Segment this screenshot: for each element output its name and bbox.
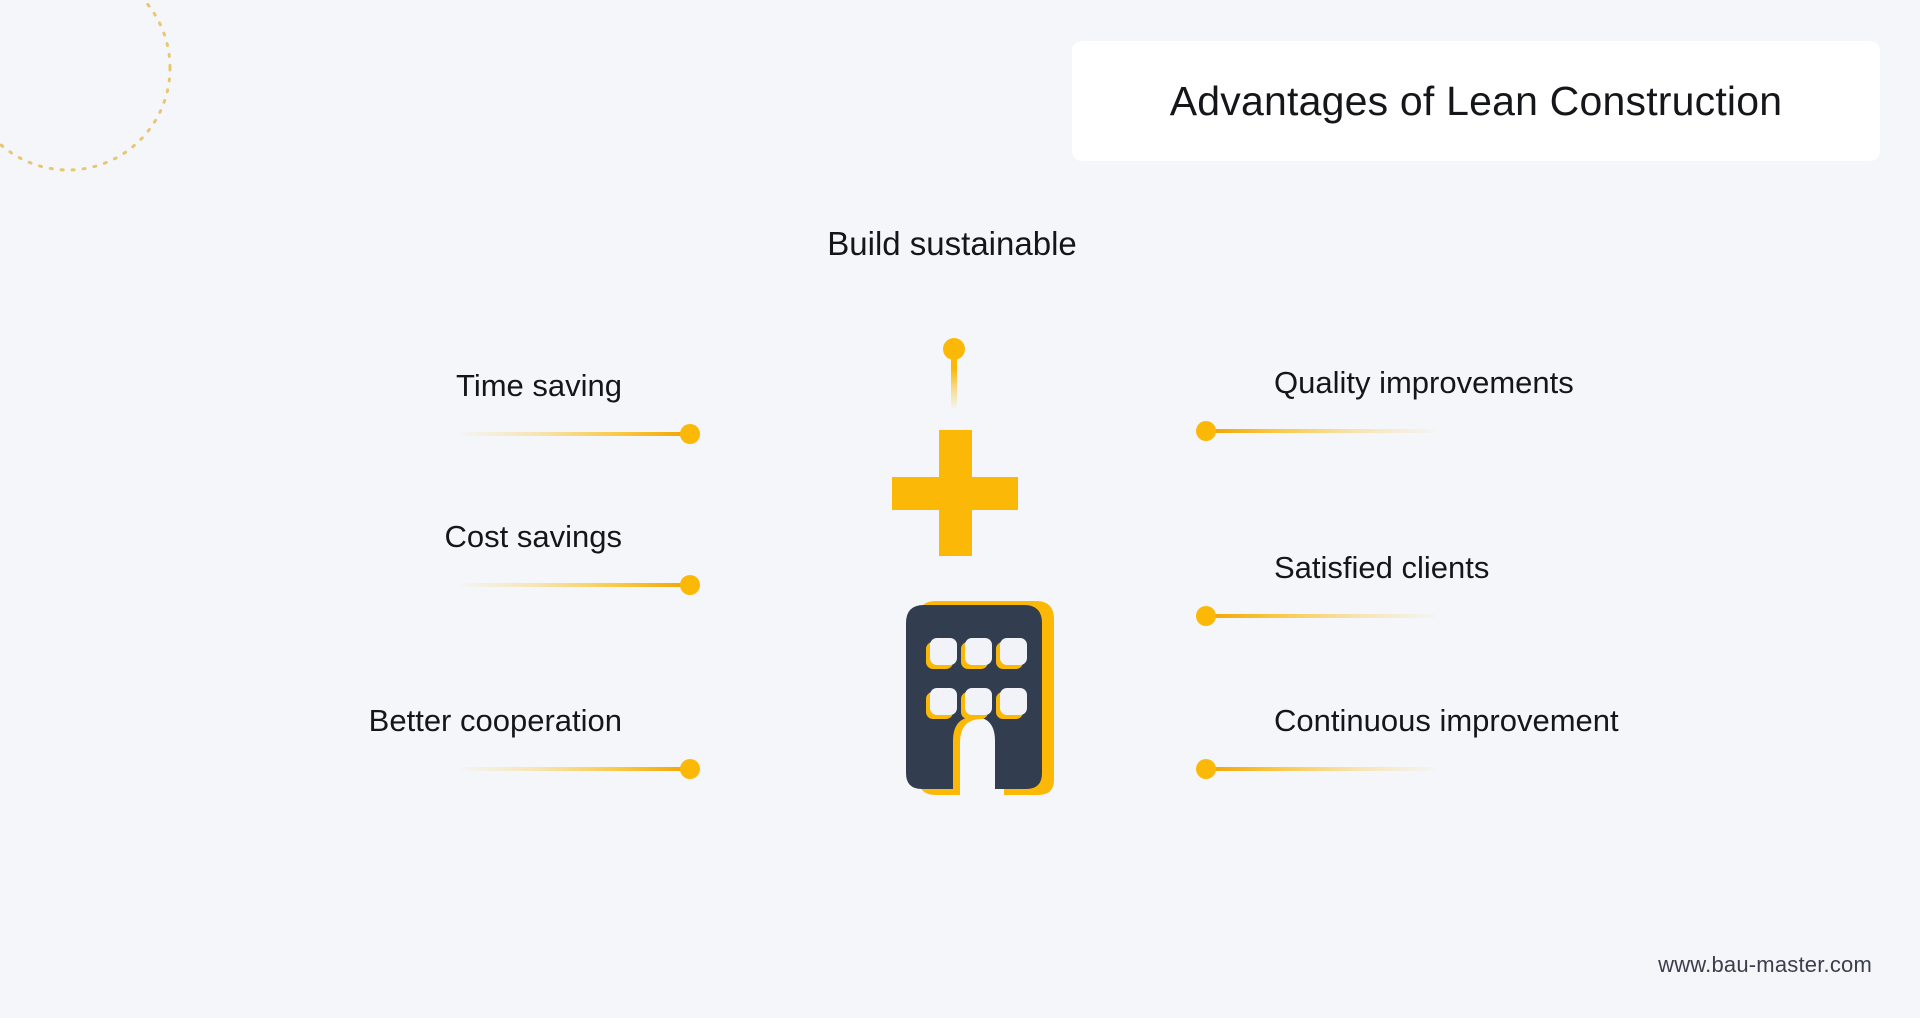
connector-dot <box>1196 759 1216 779</box>
connector-stroke <box>460 767 690 771</box>
corner-arc-decoration <box>0 0 188 188</box>
connector-line <box>1196 606 1436 626</box>
plus-icon <box>892 430 1018 556</box>
item-label: Continuous improvement <box>1196 705 1836 736</box>
connector-line <box>460 424 700 444</box>
sustainable-building-icon <box>838 330 1078 800</box>
item-quality-improvements[interactable]: Quality improvements <box>1196 367 1836 477</box>
footer-website-url[interactable]: www.bau-master.com <box>1658 952 1872 978</box>
infographic-canvas: Advantages of Lean Construction Build su… <box>0 0 1920 1018</box>
plus-vertical-bar <box>939 430 972 556</box>
item-cost-savings[interactable]: Cost savings <box>120 521 700 631</box>
pin-stem <box>951 356 957 408</box>
connector-dot <box>680 759 700 779</box>
connector-dot <box>680 424 700 444</box>
connector-dot <box>680 575 700 595</box>
connector-stroke <box>460 432 690 436</box>
building-icon <box>900 595 1060 800</box>
title-card: Advantages of Lean Construction <box>1072 41 1880 161</box>
connector-line <box>460 759 700 779</box>
item-continuous-improvement[interactable]: Continuous improvement <box>1196 705 1836 815</box>
item-label: Cost savings <box>120 521 700 552</box>
connector-stroke <box>1206 767 1436 771</box>
connector-line <box>460 575 700 595</box>
center-heading: Build sustainable <box>0 225 1912 263</box>
item-better-cooperation[interactable]: Better cooperation <box>120 705 700 815</box>
page-title: Advantages of Lean Construction <box>1170 78 1783 125</box>
connector-stroke <box>1206 429 1436 433</box>
building-glyph <box>900 595 1060 800</box>
item-label: Better cooperation <box>120 705 700 736</box>
item-time-saving[interactable]: Time saving <box>120 370 700 480</box>
connector-line <box>1196 759 1436 779</box>
item-satisfied-clients[interactable]: Satisfied clients <box>1196 552 1836 662</box>
location-pin-icon <box>943 338 1183 408</box>
connector-dot <box>1196 421 1216 441</box>
item-label: Time saving <box>120 370 700 401</box>
connector-line <box>1196 421 1436 441</box>
connector-stroke <box>460 583 690 587</box>
connector-dot <box>1196 606 1216 626</box>
connector-stroke <box>1206 614 1436 618</box>
item-label: Satisfied clients <box>1196 552 1836 583</box>
item-label: Quality improvements <box>1196 367 1836 398</box>
